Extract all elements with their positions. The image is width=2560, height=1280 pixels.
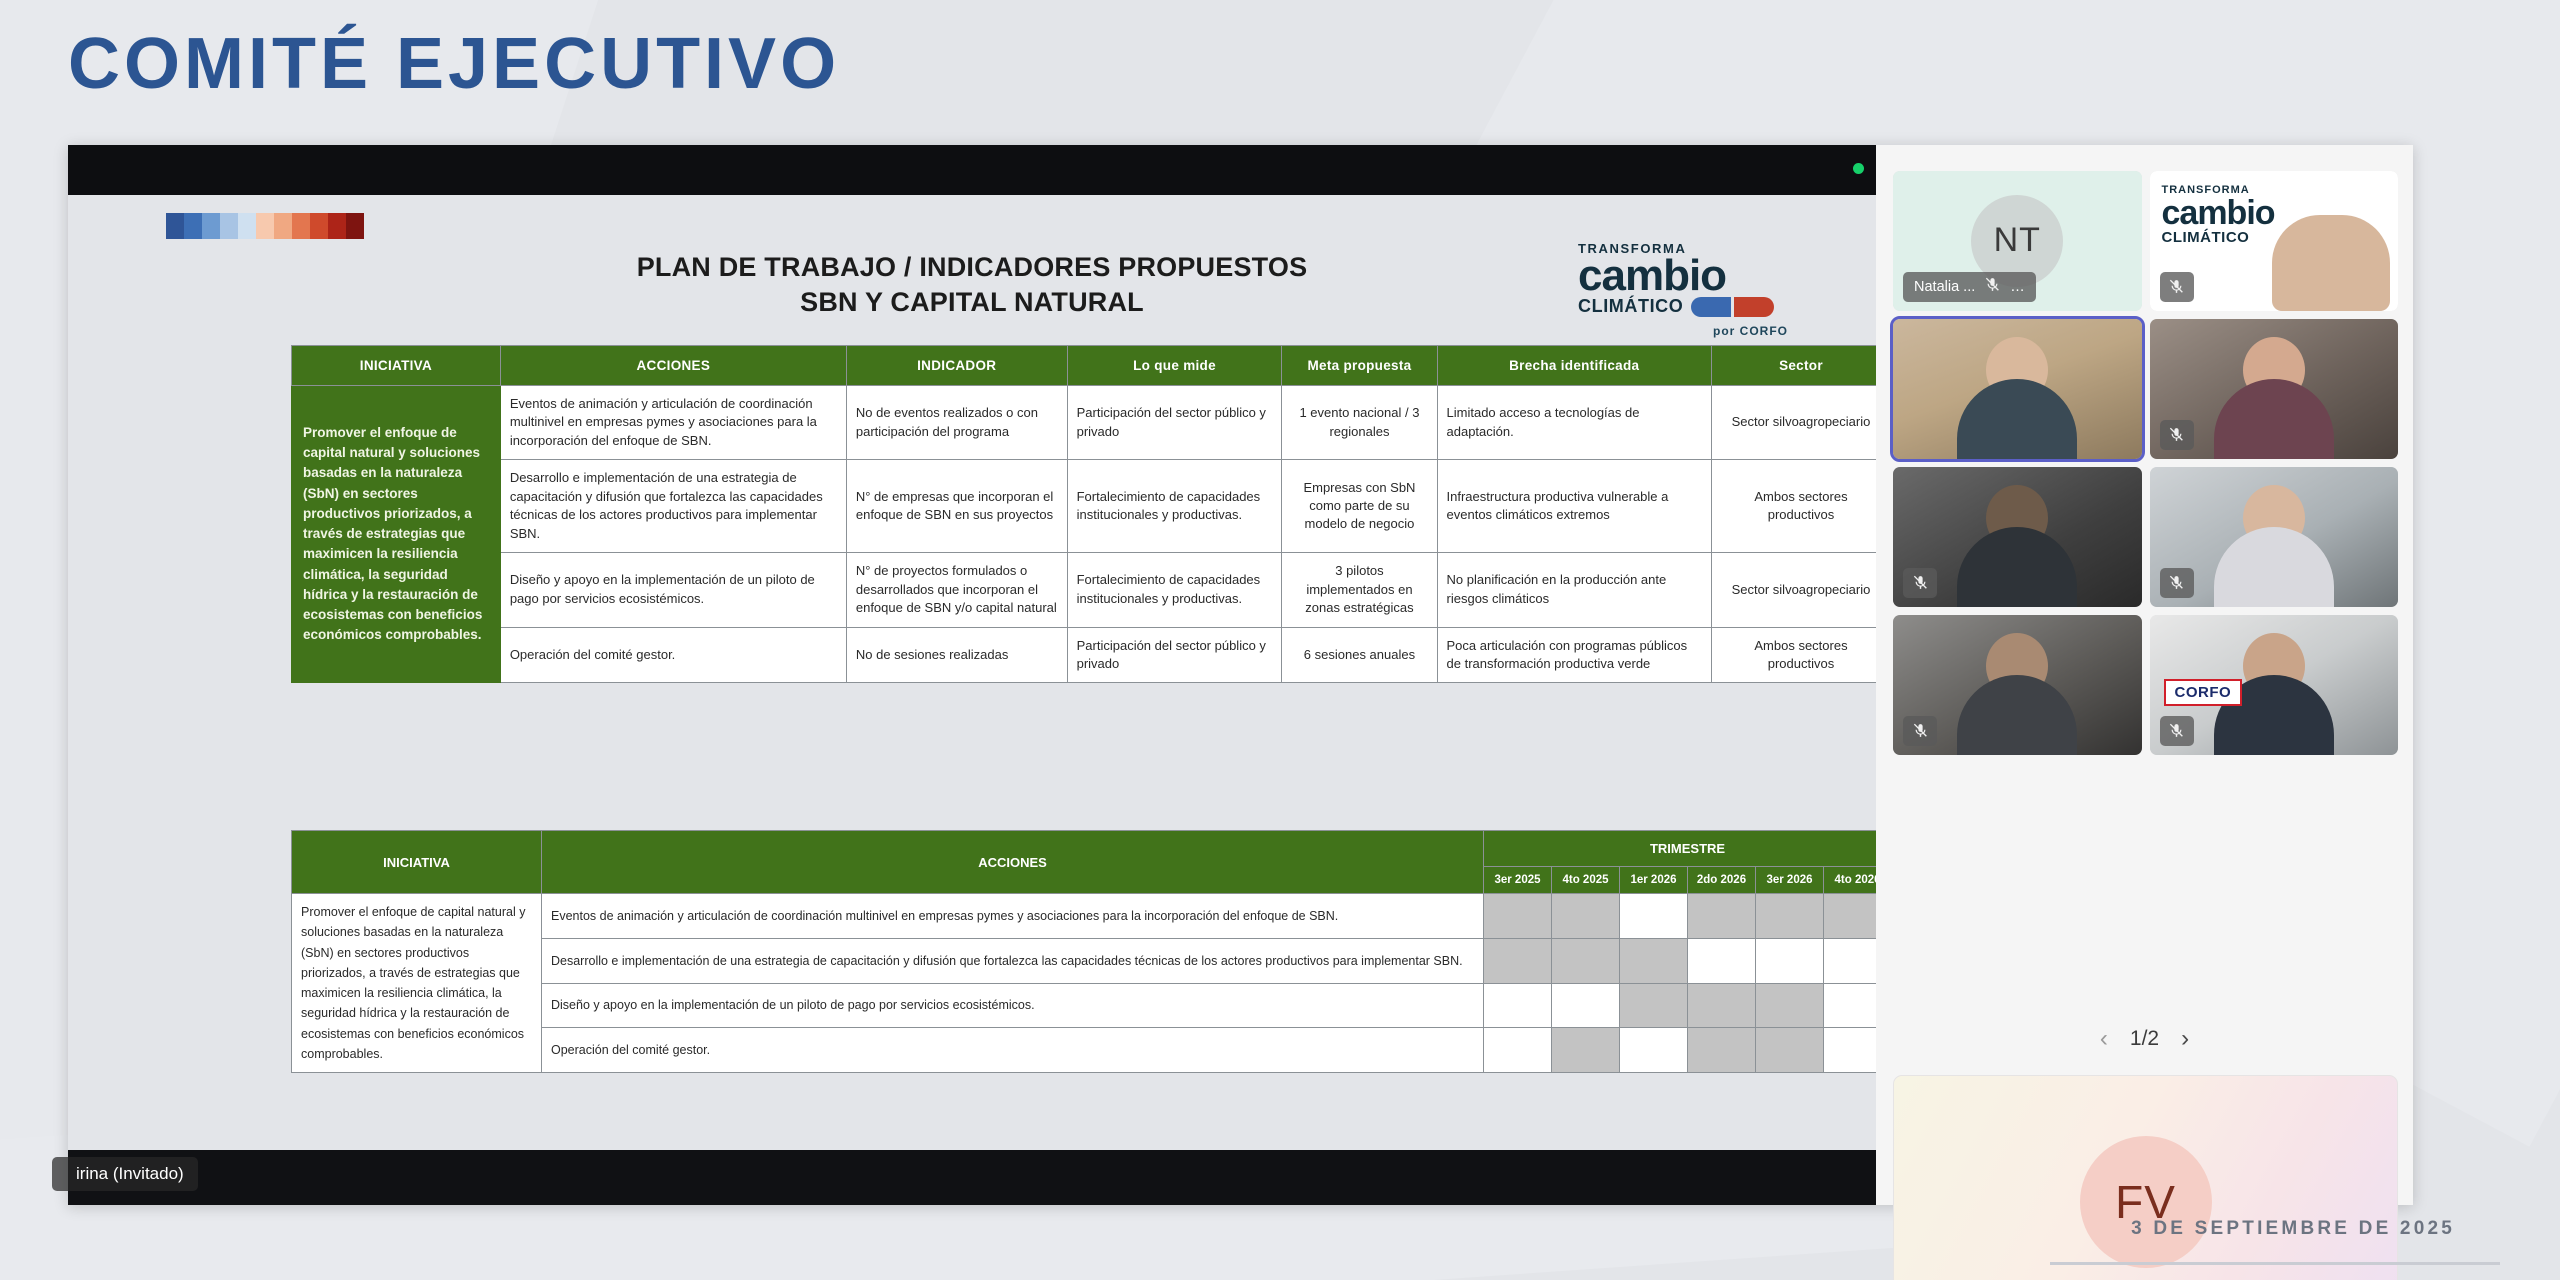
col-header-trimestre: TRIMESTRE (1484, 831, 1877, 867)
gantt-cell-2-5 (1824, 983, 1877, 1028)
participant-tile-1[interactable]: TRANSFORMAcambioCLIMÁTICO (2150, 171, 2399, 311)
table-row: Promover el enfoque de capital natural y… (292, 386, 1877, 460)
gantt-cell-0-4 (1756, 894, 1824, 939)
participants-rail: NTNatalia ...…TRANSFORMAcambioCLIMÁTICOC… (1876, 145, 2413, 1205)
table-row: Diseño y apoyo en la implementación de u… (292, 553, 1877, 627)
acciones-cell: Operación del comité gestor. (500, 627, 846, 683)
brecha-cell: Infraestructura productiva vulnerable a … (1437, 460, 1711, 553)
accion-cell: Eventos de animación y articulación de c… (542, 894, 1484, 939)
mic-muted-icon[interactable] (2160, 272, 2194, 302)
gantt-cell-2-4 (1756, 983, 1824, 1028)
accion-cell: Desarrollo e implementación de una estra… (542, 938, 1484, 983)
participant-tile-0[interactable]: NTNatalia ...… (1893, 171, 2142, 311)
mic-muted-icon[interactable] (2160, 568, 2194, 598)
stripe-8 (310, 213, 328, 239)
quarter-header-0: 3er 2025 (1484, 867, 1552, 894)
meeting-window: PLAN DE TRABAJO / INDICADORES PROPUESTOS… (68, 145, 2413, 1205)
gantt-cell-0-1 (1552, 894, 1620, 939)
gantt-cell-3-1 (1552, 1028, 1620, 1073)
stripe-3 (220, 213, 238, 239)
gantt-cell-3-5 (1824, 1028, 1877, 1073)
stage-topbar (68, 145, 1876, 195)
meta-cell: 6 sesiones anuales (1282, 627, 1437, 683)
acciones-cell: Desarrollo e implementación de una estra… (500, 460, 846, 553)
col-header-2: INDICADOR (846, 346, 1067, 386)
participant-tile-7[interactable]: CORFO (2150, 615, 2399, 755)
mic-muted-icon[interactable] (2160, 420, 2194, 450)
page-title: COMITÉ EJECUTIVO (68, 28, 840, 100)
initiative-cell: Promover el enfoque de capital natural y… (292, 894, 542, 1073)
meta-cell: Empresas con SbN como parte de su modelo… (1282, 460, 1437, 553)
col-header-iniciativa: INICIATIVA (292, 831, 542, 894)
table-header-row: INICIATIVAACCIONESINDICADORLo que mideMe… (292, 346, 1877, 386)
participant-name-label: Natalia ...… (1903, 272, 2036, 302)
col-header-3: Lo que mide (1067, 346, 1282, 386)
stripe-7 (292, 213, 310, 239)
acciones-cell: Diseño y apoyo en la implementación de u… (500, 553, 846, 627)
participant-tile-grid: NTNatalia ...…TRANSFORMAcambioCLIMÁTICOC… (1893, 171, 2398, 755)
stripe-6 (274, 213, 292, 239)
gantt-cell-3-2 (1620, 1028, 1688, 1073)
quarter-header-2: 1er 2026 (1620, 867, 1688, 894)
brecha-cell: Limitado acceso a tecnologías de adaptac… (1437, 386, 1711, 460)
footer-date: 3 DE SEPTIEMBRE DE 2025 (2131, 1218, 2455, 1240)
quarter-header-3: 2do 2026 (1688, 867, 1756, 894)
sector-cell: Sector silvoagropeciario (1711, 386, 1876, 460)
gantt-cell-0-0 (1484, 894, 1552, 939)
gantt-cell-1-3 (1688, 938, 1756, 983)
col-header-6: Sector (1711, 346, 1876, 386)
col-header-5: Brecha identificada (1437, 346, 1711, 386)
col-header-acciones: ACCIONES (542, 831, 1484, 894)
indicador-cell: No de sesiones realizadas (846, 627, 1067, 683)
quarter-header-4: 3er 2026 (1756, 867, 1824, 894)
brecha-cell: Poca articulación con programas públicos… (1437, 627, 1711, 683)
shared-content-stage[interactable]: PLAN DE TRABAJO / INDICADORES PROPUESTOS… (68, 145, 1876, 1205)
gantt-cell-2-3 (1688, 983, 1756, 1028)
indicators-table: INICIATIVAACCIONESINDICADORLo que mideMe… (291, 345, 1876, 683)
participant-tile-3[interactable] (2150, 319, 2399, 459)
warming-stripes-graphic (166, 213, 364, 239)
participant-tile-6[interactable] (1893, 615, 2142, 755)
gantt-cell-3-4 (1756, 1028, 1824, 1073)
spotlight-participant-tile[interactable]: FV Mostrar escritorio (1893, 1075, 2398, 1280)
logo-line-cambio: cambio (1578, 256, 1788, 296)
mic-muted-icon[interactable] (2160, 716, 2194, 746)
gantt-cell-1-2 (1620, 938, 1688, 983)
sector-cell: Sector silvoagropeciario (1711, 553, 1876, 627)
corfo-logo: CORFO (2164, 679, 2243, 706)
stripe-2 (202, 213, 220, 239)
meta-cell: 3 pilotos implementados en zonas estraté… (1282, 553, 1437, 627)
transforma-logo-background: TRANSFORMAcambioCLIMÁTICO (2162, 185, 2275, 245)
participant-video-body (1957, 675, 2077, 755)
participant-video-body (2214, 527, 2334, 607)
gantt-cell-1-1 (1552, 938, 1620, 983)
gantt-cell-3-0 (1484, 1028, 1552, 1073)
mic-muted-icon[interactable] (1903, 716, 1937, 746)
avatar: FV (2080, 1136, 2212, 1268)
stripe-9 (328, 213, 346, 239)
participant-video-body (2214, 379, 2334, 459)
participant-tile-4[interactable] (1893, 467, 2142, 607)
indicador-cell: No de eventos realizados o con participa… (846, 386, 1067, 460)
stripe-5 (256, 213, 274, 239)
gantt-cell-1-4 (1756, 938, 1824, 983)
indicador-cell: N° de proyectos formulados o desarrollad… (846, 553, 1067, 627)
brecha-cell: No planificación en la producción ante r… (1437, 553, 1711, 627)
participant-name: Natalia ... (1914, 279, 1975, 295)
lo-que-mide-cell: Fortalecimiento de capacidades instituci… (1067, 553, 1282, 627)
participant-video-body (1957, 379, 2077, 459)
logo-line-corfo: por CORFO (1578, 324, 1788, 338)
col-header-0: INICIATIVA (292, 346, 501, 386)
chevron-left-icon[interactable]: ‹ (2100, 1025, 2108, 1053)
lo-que-mide-cell: Fortalecimiento de capacidades instituci… (1067, 460, 1282, 553)
more-options-icon[interactable]: … (2010, 279, 2025, 295)
mic-muted-icon[interactable] (1903, 568, 1937, 598)
gantt-cell-1-0 (1484, 938, 1552, 983)
gantt-cell-1-5 (1824, 938, 1877, 983)
footer-rule (2050, 1262, 2500, 1265)
sector-cell: Ambos sectores productivos (1711, 460, 1876, 553)
participant-tile-2[interactable] (1893, 319, 2142, 459)
presenter-name-tag: irina (Invitado) (52, 1157, 198, 1191)
schedule-gantt-table: INICIATIVAACCIONESTRIMESTRE3er 20254to 2… (291, 830, 1876, 1073)
gantt-cell-0-3 (1688, 894, 1756, 939)
gantt-cell-0-2 (1620, 894, 1688, 939)
stripe-4 (238, 213, 256, 239)
recording-indicator-icon (1853, 163, 1864, 174)
lo-que-mide-cell: Participación del sector público y priva… (1067, 386, 1282, 460)
initiative-cell: Promover el enfoque de capital natural y… (292, 386, 501, 683)
acciones-cell: Eventos de animación y articulación de c… (500, 386, 846, 460)
gantt-cell-2-0 (1484, 983, 1552, 1028)
chevron-right-icon[interactable]: › (2181, 1025, 2189, 1053)
gantt-cell-2-1 (1552, 983, 1620, 1028)
slide-page: COMITÉ EJECUTIVO PLAN DE TRABAJO / INDIC… (0, 0, 2560, 1280)
table-header-row: INICIATIVAACCIONESTRIMESTRE (292, 831, 1877, 867)
stripe-0 (166, 213, 184, 239)
stripe-10 (346, 213, 364, 239)
shared-slide: PLAN DE TRABAJO / INDICADORES PROPUESTOS… (68, 195, 1876, 1150)
stripe-1 (184, 213, 202, 239)
participant-tile-5[interactable] (2150, 467, 2399, 607)
table-row: Desarrollo e implementación de una estra… (292, 460, 1877, 553)
participant-video-figure (2272, 215, 2390, 311)
col-header-1: ACCIONES (500, 346, 846, 386)
logo-pill-graphic (1691, 297, 1774, 317)
mic-muted-icon[interactable] (1984, 276, 2001, 297)
quarter-header-5: 4to 2026 (1824, 867, 1877, 894)
participant-video-body (1957, 527, 2077, 607)
table-row: Operación del comité gestor.No de sesion… (292, 627, 1877, 683)
gantt-cell-2-2 (1620, 983, 1688, 1028)
accion-cell: Diseño y apoyo en la implementación de u… (542, 983, 1484, 1028)
gantt-cell-0-5 (1824, 894, 1877, 939)
roster-pagination: ‹ 1/2 › (1876, 1025, 2413, 1053)
page-indicator: 1/2 (2130, 1027, 2159, 1051)
col-header-4: Meta propuesta (1282, 346, 1437, 386)
logo-line-climatico: CLIMÁTICO (1578, 296, 1683, 317)
quarter-header-1: 4to 2025 (1552, 867, 1620, 894)
meta-cell: 1 evento nacional / 3 regionales (1282, 386, 1437, 460)
accion-cell: Operación del comité gestor. (542, 1028, 1484, 1073)
transforma-cambio-climatico-logo: TRANSFORMA cambio CLIMÁTICO por CORFO (1578, 241, 1788, 338)
table-row: Promover el enfoque de capital natural y… (292, 894, 1877, 939)
lo-que-mide-cell: Participación del sector público y priva… (1067, 627, 1282, 683)
sector-cell: Ambos sectores productivos (1711, 627, 1876, 683)
indicador-cell: N° de empresas que incorporan el enfoque… (846, 460, 1067, 553)
gantt-cell-3-3 (1688, 1028, 1756, 1073)
